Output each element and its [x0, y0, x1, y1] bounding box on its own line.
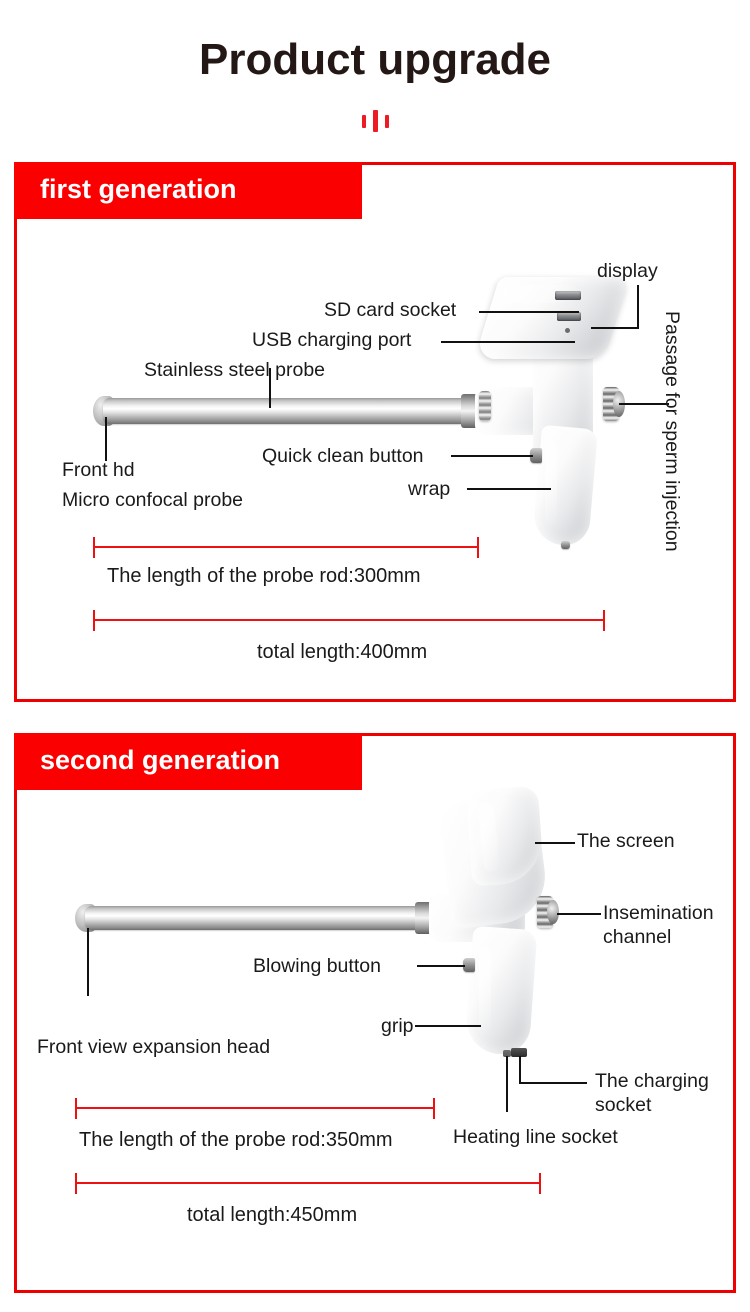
- callout-insemination-channel-line1: Insemination: [603, 901, 714, 927]
- leader-blowing-button: [417, 965, 465, 967]
- dim-cap-right: [477, 537, 479, 558]
- callout-sd-card-socket: SD card socket: [324, 298, 456, 324]
- divider-bar-center: [373, 110, 378, 132]
- leader-insemination-channel: [557, 913, 601, 915]
- callout-charging-socket-line2: socket: [595, 1093, 651, 1119]
- leader-the-screen: [535, 842, 575, 844]
- second-generation-panel: second generation: [14, 733, 736, 1293]
- callout-the-screen: The screen: [577, 829, 675, 855]
- leader-quick-clean-button: [451, 455, 533, 457]
- leader-usb-charging-port: [441, 341, 575, 343]
- leader-front-view-expansion-head: [87, 928, 89, 996]
- insemination-channel-cap: [547, 900, 559, 924]
- first-generation-panel: first generation: [14, 162, 736, 702]
- pistol-grip: [532, 425, 598, 547]
- divider-bar-left: [362, 115, 366, 128]
- callout-blowing-button: Blowing button: [253, 954, 381, 980]
- expansion-probe-rod: [85, 906, 427, 930]
- dim-bar: [75, 1182, 541, 1184]
- dimension-total-length-label-2: total length:450mm: [187, 1204, 357, 1227]
- indicator-dot: [565, 328, 570, 333]
- leader-wrap: [467, 488, 551, 490]
- leader-charging-socket-horizontal: [519, 1082, 587, 1084]
- callout-micro-confocal-probe: Micro confocal probe: [62, 488, 243, 514]
- rod-joint-ring: [479, 391, 491, 421]
- leader-front-hd: [105, 417, 107, 461]
- product-upgrade-infographic: Product upgrade first generation: [0, 0, 750, 1312]
- callout-front-hd: Front hd: [62, 458, 135, 484]
- leader-charging-socket-vertical: [519, 1056, 521, 1084]
- dim-cap-right: [539, 1173, 541, 1194]
- dim-cap-right: [433, 1098, 435, 1119]
- callout-grip: grip: [381, 1014, 414, 1040]
- sd-card-slot[interactable]: [555, 291, 581, 300]
- dimension-probe-rod-label-2: The length of the probe rod:350mm: [79, 1129, 393, 1152]
- callout-usb-charging-port: USB charging port: [252, 328, 411, 354]
- callout-front-view-expansion-head: Front view expansion head: [37, 1035, 270, 1061]
- leader-display-horizontal: [591, 327, 639, 329]
- callout-insemination-channel-line2: channel: [603, 925, 671, 951]
- grip-foot: [561, 541, 570, 549]
- dim-bar: [93, 546, 479, 548]
- callout-quick-clean-button: Quick clean button: [262, 444, 424, 470]
- dimension-total-length-label-1: total length:400mm: [257, 641, 427, 664]
- leader-display-vertical: [637, 285, 639, 329]
- callout-stainless-steel-probe: Stainless steel probe: [144, 358, 325, 384]
- callout-passage-for-sperm-injection: Passage for sperm injection: [660, 311, 683, 552]
- stainless-steel-rod: [103, 398, 473, 424]
- callout-charging-socket-line1: The charging: [595, 1069, 709, 1095]
- dim-bar: [75, 1107, 435, 1109]
- callout-wrap: wrap: [408, 477, 450, 503]
- leader-heating-line-socket: [506, 1056, 508, 1112]
- second-generation-canvas: The screen Insemination channel Blowing …: [17, 736, 733, 1290]
- display-screen[interactable]: [474, 277, 629, 359]
- pistol-grip: [465, 926, 538, 1056]
- dimension-probe-rod-label-1: The length of the probe rod:300mm: [107, 565, 421, 588]
- divider-bar-right: [385, 115, 389, 128]
- callout-display: display: [597, 259, 658, 285]
- first-generation-canvas: display SD card socket USB charging port…: [17, 165, 733, 699]
- three-bar-divider-icon: [0, 108, 750, 134]
- callout-heating-line-socket: Heating line socket: [453, 1125, 618, 1151]
- dim-bar: [93, 619, 605, 621]
- usb-port-slot[interactable]: [557, 312, 581, 321]
- page-title: Product upgrade: [0, 36, 750, 84]
- leader-grip: [415, 1025, 481, 1027]
- dim-cap-right: [603, 610, 605, 631]
- leader-sd-card-socket: [479, 311, 579, 313]
